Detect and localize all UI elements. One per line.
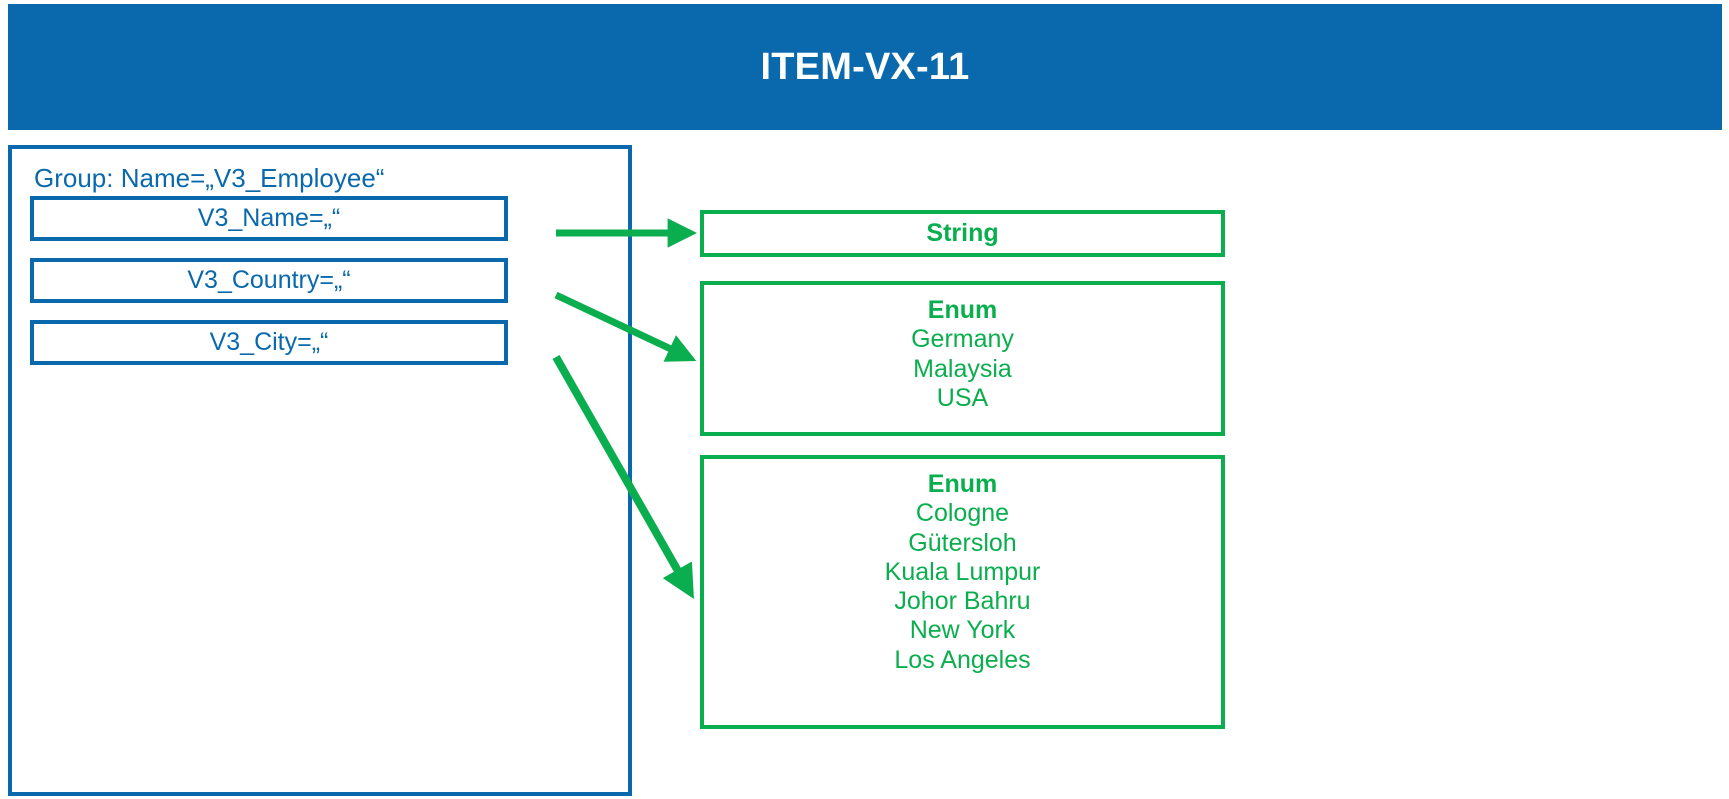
group-container: Group: Name=„V3_Employee“ V3_Name=„“ V3_… <box>8 145 632 796</box>
enum-item: Johor Bahru <box>704 587 1221 616</box>
header-banner: ITEM-VX-11 <box>8 4 1722 130</box>
enum-item: Germany <box>704 325 1221 354</box>
type-box-string: String <box>700 210 1225 257</box>
enum-item: Gütersloh <box>704 529 1221 558</box>
enum-item: Cologne <box>704 499 1221 528</box>
group-label: Group: Name=„V3_Employee“ <box>34 165 384 191</box>
type-title: Enum <box>704 470 1221 499</box>
enum-item: Los Angeles <box>704 646 1221 675</box>
enum-item: USA <box>704 384 1221 413</box>
field-box-v3-country[interactable]: V3_Country=„“ <box>30 258 508 303</box>
enum-item: Malaysia <box>704 355 1221 384</box>
type-box-enum-country: Enum Germany Malaysia USA <box>700 281 1225 436</box>
field-label: V3_City=„“ <box>210 330 329 355</box>
type-title: Enum <box>704 296 1221 325</box>
diagram-page: ITEM-VX-11 Group: Name=„V3_Employee“ V3_… <box>0 0 1729 799</box>
enum-item: Kuala Lumpur <box>704 558 1221 587</box>
field-label: V3_Name=„“ <box>198 206 340 231</box>
enum-item: New York <box>704 616 1221 645</box>
page-title: ITEM-VX-11 <box>8 4 1722 130</box>
field-label: V3_Country=„“ <box>187 268 350 293</box>
type-title: String <box>926 219 998 248</box>
field-box-v3-name[interactable]: V3_Name=„“ <box>30 196 508 241</box>
field-box-v3-city[interactable]: V3_City=„“ <box>30 320 508 365</box>
type-box-enum-city: Enum Cologne Gütersloh Kuala Lumpur Joho… <box>700 455 1225 729</box>
